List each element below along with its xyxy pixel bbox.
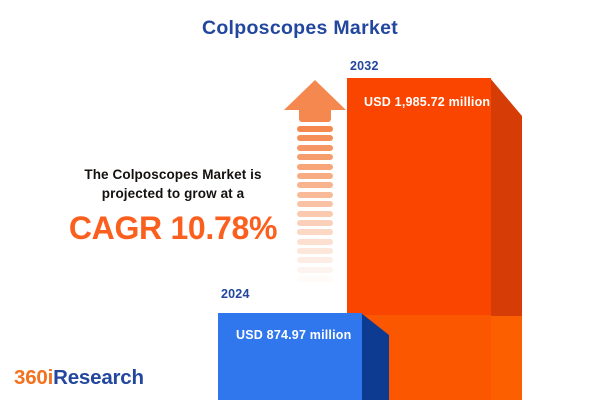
bar-2024-year-label: 2024 (221, 287, 250, 301)
arrow-stripe (297, 192, 333, 198)
arrow-stripe (297, 276, 333, 282)
logo-360i-text: 360i (14, 366, 53, 389)
arrow-stripe (297, 201, 333, 207)
arrow-stripe (297, 257, 333, 263)
bar-2032-front-highlight (347, 78, 491, 315)
arrow-stripe-stack (297, 126, 333, 295)
cagr-value-text: CAGR 10.78% (58, 210, 288, 247)
arrow-stripe (297, 267, 333, 273)
cagr-lead-line-1: The Colposcopes Market is (84, 167, 261, 182)
arrow-stripe (297, 164, 333, 170)
arrow-head-icon (284, 80, 346, 110)
cagr-lead-line-2: projected to grow at a (102, 186, 244, 201)
arrow-stripe (297, 211, 333, 217)
arrow-stripe (297, 126, 333, 132)
bar-2024-value-label: USD 874.97 million (236, 328, 351, 342)
bar-2024-front-face[interactable] (218, 313, 362, 400)
bar-2032-value-label: USD 1,985.72 million (364, 95, 490, 109)
arrow-neck-shape (299, 109, 331, 122)
arrow-stripe (297, 145, 333, 151)
arrow-stripe (297, 173, 333, 179)
bar-2032-year-label: 2032 (350, 59, 379, 73)
arrow-stripe (297, 229, 333, 235)
cagr-lead-text: The Colposcopes Market is projected to g… (58, 165, 288, 203)
arrow-stripe (297, 135, 333, 141)
logo-research-text: Research (53, 366, 144, 389)
infographic-canvas: Colposcopes Market 2032 USD 1,985.72 mil… (0, 0, 600, 400)
arrow-stripe (297, 239, 333, 245)
bar-2032-base-fill (491, 316, 522, 400)
up-arrow-growth-icon (284, 80, 346, 295)
brand-logo[interactable]: 360iResearch (14, 366, 144, 390)
arrow-stripe (297, 154, 333, 160)
arrow-stripe (297, 220, 333, 226)
cagr-callout: The Colposcopes Market is projected to g… (58, 165, 288, 247)
arrow-stripe (297, 182, 333, 188)
arrow-stripe (297, 248, 333, 254)
